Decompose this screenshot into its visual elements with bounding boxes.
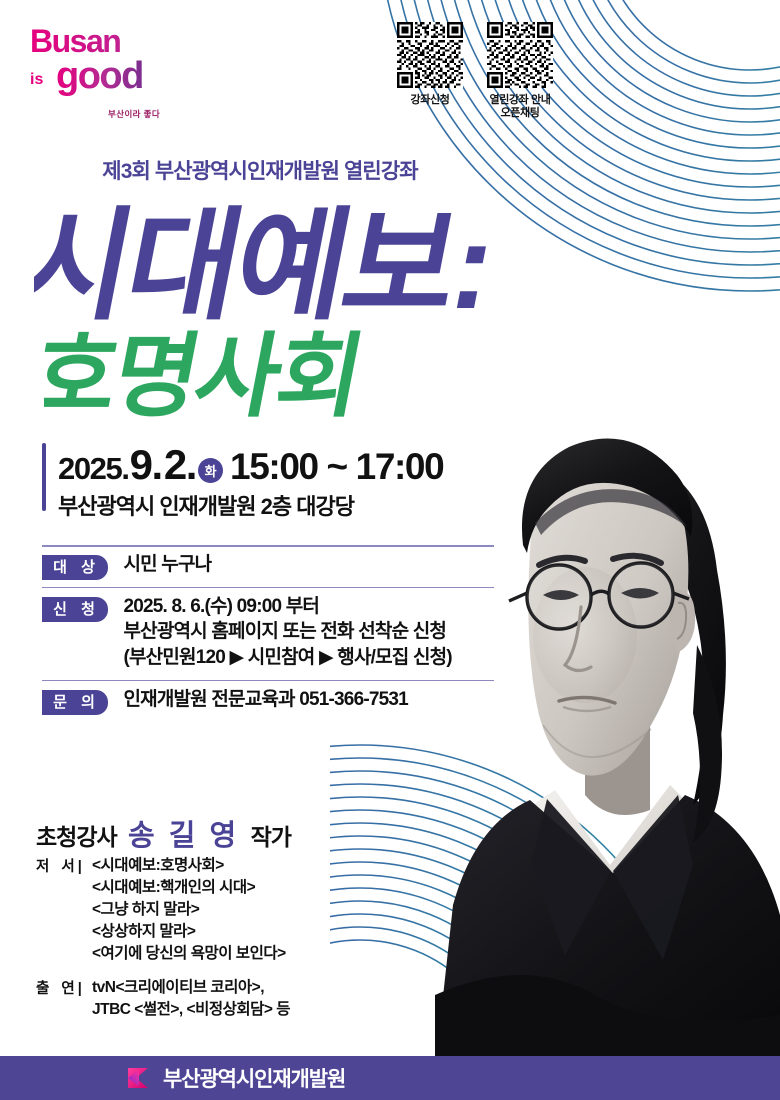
credit-item: <그냥 하지 말라> — [92, 899, 286, 921]
speaker-credits: 저 서| <시대예보:호명사회> <시대예보:핵개인의 시대> <그냥 하지 말… — [36, 855, 436, 1033]
speaker-portrait-image — [435, 395, 780, 1070]
qr-course-apply[interactable]: 강좌신청 — [397, 22, 463, 107]
event-venue: 부산광역시 인재개발원 2층 대강당 — [58, 489, 354, 521]
event-kicker: 제3회 부산광역시인재개발원 열린강좌 — [0, 155, 520, 185]
info-line: (부산민원120 ▶ 시민참여 ▶ 행사/모집 신청) — [123, 645, 451, 671]
page-title-sub: 호명사회 — [44, 320, 464, 430]
credit-values-appearances: tvN<크리에이티브 코리아>, JTBC <썰전>, <비정상회담> 등 — [92, 977, 290, 1021]
credit-row-books: 저 서| <시대예보:호명사회> <시대예보:핵개인의 시대> <그냥 하지 말… — [36, 855, 436, 965]
event-datetime: 2025. 9. 2. 화 15:00 ~ 17:00 — [58, 441, 443, 489]
row-divider — [42, 545, 494, 547]
speaker-portrait — [435, 395, 780, 1070]
page-title-sub-text: 호명사회 — [44, 325, 370, 428]
info-label-contact: 문 의 — [42, 690, 108, 715]
page-title-main-text: 시대예보: — [34, 199, 503, 335]
footer-bar: 부산광역시인재개발원 — [0, 1056, 780, 1100]
brand-tagline: 부산이라 좋다 — [108, 108, 160, 120]
credit-item: JTBC <썰전>, <비정상회담> 등 — [92, 999, 290, 1021]
svg-text:is: is — [30, 71, 43, 88]
info-row-contact: 문 의 인재개발원 전문교육과 051-366-7531 — [42, 680, 494, 713]
credit-key-label: 출 연 — [36, 981, 79, 997]
poster-canvas: Busan is good 부산이라 좋다 — [0, 0, 780, 1100]
row-divider — [42, 680, 494, 682]
credit-item: <시대예보:호명사회> — [92, 855, 286, 877]
info-label-apply: 신 청 — [42, 597, 108, 622]
kicker-text: 부산광역시인재개발원 열린강좌 — [155, 160, 418, 183]
speaker-suffix: 작가 — [251, 824, 291, 850]
info-line: 인재개발원 전문교육과 051-366-7531 — [123, 687, 407, 713]
info-value-target: 시민 누구나 — [123, 552, 211, 578]
info-value-contact: 인재개발원 전문교육과 051-366-7531 — [123, 687, 407, 713]
info-row-apply: 신 청 2025. 8. 6.(수) 09:00 부터 부산광역시 홈페이지 또… — [42, 587, 494, 671]
qr-caption: 열린강좌 안내오픈채팅 — [487, 94, 553, 121]
date-accent-bar — [42, 443, 46, 511]
credit-values-books: <시대예보:호명사회> <시대예보:핵개인의 시대> <그냥 하지 말라> <상… — [92, 855, 286, 965]
credit-key-label: 저 서 — [36, 859, 79, 875]
credit-item: <여기에 당신의 욕망이 보인다> — [92, 943, 286, 965]
event-weekday-badge: 화 — [198, 458, 223, 483]
credit-item: <상상하지 말라> — [92, 921, 286, 943]
info-table: 대 상 시민 누구나 신 청 2025. 8. 6.(수) 09:00 부터 부… — [42, 545, 494, 721]
svg-text:Busan: Busan — [30, 24, 120, 59]
qr-openchat[interactable]: 열린강좌 안내오픈채팅 — [487, 22, 553, 121]
row-divider — [42, 587, 494, 589]
hrdi-logo-icon — [126, 1066, 154, 1090]
event-time: 15:00 ~ 17:00 — [230, 446, 443, 488]
speaker-name: 송 길 영 — [128, 820, 239, 852]
svg-text:good: good — [56, 55, 143, 96]
kicker-number: 제3회 — [102, 160, 150, 183]
credit-key-appearances: 출 연| — [36, 977, 92, 1021]
speaker-line: 초청강사 송 길 영 작가 — [36, 812, 291, 854]
qr-caption: 강좌신청 — [397, 94, 463, 107]
info-line: 부산광역시 홈페이지 또는 전화 선착순 신청 — [123, 619, 451, 645]
credit-row-appearances: 출 연| tvN<크리에이티브 코리아>, JTBC <썰전>, <비정상회담>… — [36, 977, 436, 1021]
event-year: 2025. — [58, 451, 129, 487]
brand-logo-mark: Busan is good — [30, 24, 200, 96]
credit-key-divider: | — [78, 981, 82, 997]
credit-key-divider: | — [78, 859, 82, 875]
speaker-prefix: 초청강사 — [36, 824, 117, 850]
qr-code-icon[interactable] — [397, 22, 463, 88]
qr-code-icon[interactable] — [487, 22, 553, 88]
event-month: 9. — [130, 441, 162, 489]
info-line: 2025. 8. 6.(수) 09:00 부터 — [123, 594, 451, 620]
credit-item: <시대예보:핵개인의 시대> — [92, 877, 286, 899]
footer-content: 부산광역시인재개발원 — [126, 1056, 345, 1100]
page-title-main: 시대예보: — [34, 196, 654, 336]
event-day: 2. — [164, 441, 196, 489]
info-line: 시민 누구나 — [123, 552, 211, 578]
info-value-apply: 2025. 8. 6.(수) 09:00 부터 부산광역시 홈페이지 또는 전화… — [123, 594, 451, 671]
info-row-target: 대 상 시민 누구나 — [42, 545, 494, 578]
info-label-target: 대 상 — [42, 555, 108, 580]
credit-key-books: 저 서| — [36, 855, 92, 965]
footer-org-name: 부산광역시인재개발원 — [163, 1063, 345, 1093]
busan-is-good-logo: Busan is good 부산이라 좋다 — [30, 24, 200, 96]
credit-item: tvN<크리에이티브 코리아>, — [92, 977, 290, 999]
